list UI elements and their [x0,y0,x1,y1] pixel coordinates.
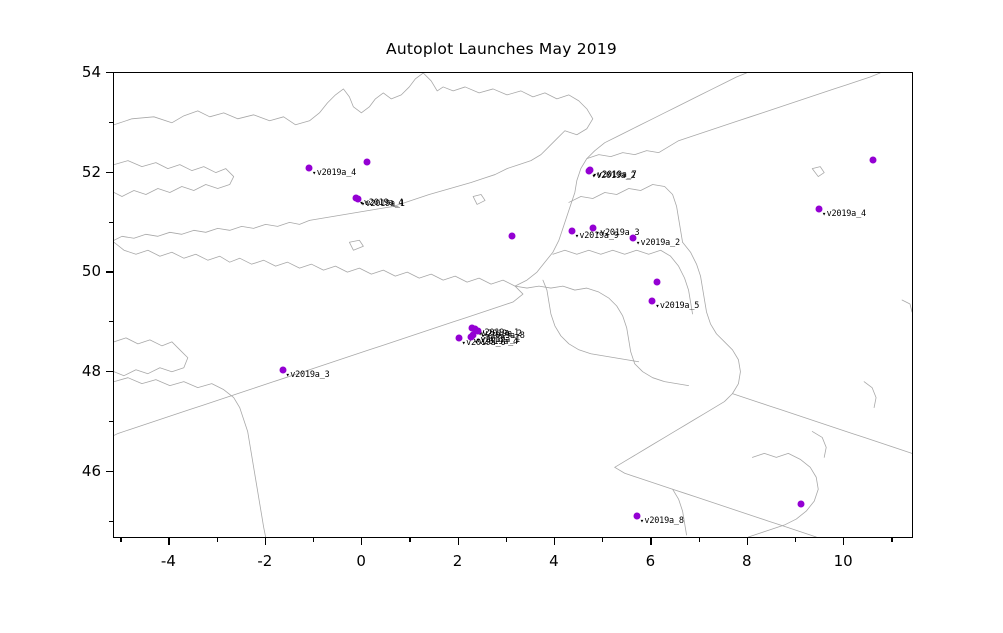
y-tick-minor [109,521,113,522]
y-tick-major [106,172,113,173]
data-point-label: v2019a_1 [361,199,405,209]
x-tick-minor [409,538,410,542]
y-tick-minor [109,321,113,322]
data-point-marker [508,233,515,240]
data-point-marker [364,158,371,165]
y-tick-label: 54 [55,63,101,81]
y-tick-label: 52 [55,163,101,181]
chart-figure: Autoplot Launches May 2019 [0,0,1003,633]
data-point-label: v2019a_2 [636,238,680,248]
x-tick-major [361,538,362,545]
data-point-marker [797,501,804,508]
y-tick-label: 48 [55,362,101,380]
x-axis-tick-labels: -4-20246810 [113,552,913,576]
x-tick-label: 0 [341,552,381,570]
y-tick-minor [109,222,113,223]
x-tick-label: -4 [148,552,188,570]
x-tick-major [554,538,555,545]
x-tick-label: 8 [727,552,767,570]
x-tick-major [458,538,459,545]
data-point-label: v2019a_4 [822,209,866,219]
y-tick-label: 46 [55,462,101,480]
x-tick-label: 10 [823,552,863,570]
y-tick-major [106,371,113,372]
x-tick-minor [602,538,603,542]
x-tick-major [747,538,748,545]
data-point-label: v2019a_4 [474,337,518,347]
x-tick-minor [217,538,218,542]
data-point-label: v2019a_8 [640,516,684,526]
page-title: Autoplot Launches May 2019 [0,40,1003,58]
data-point-label: v2019a_4 [312,168,356,178]
data-point-marker [870,157,877,164]
x-tick-major [265,538,266,545]
plot-area: v2019a_4v2019a_4v2019a_1v2019a_7v2019a_2… [113,72,913,538]
x-tick-minor [699,538,700,542]
x-tick-minor [506,538,507,542]
y-tick-major [106,471,113,472]
x-tick-label: -2 [245,552,285,570]
data-point-label: v2019a_3 [286,370,330,380]
y-tick-major [106,72,113,73]
data-point-marker [654,279,661,286]
x-tick-major [650,538,651,545]
x-tick-major [168,538,169,545]
x-tick-label: 4 [534,552,574,570]
data-points-layer: v2019a_4v2019a_4v2019a_1v2019a_7v2019a_2… [114,73,912,537]
y-axis-tick-labels: 4648505254 [55,72,101,538]
data-point-label: v2019a_2 [592,171,636,181]
x-tick-minor [795,538,796,542]
x-tick-label: 2 [438,552,478,570]
y-tick-minor [109,421,113,422]
x-tick-minor [891,538,892,542]
x-tick-label: 6 [630,552,670,570]
y-tick-minor [109,122,113,123]
y-tick-label: 50 [55,262,101,280]
x-tick-minor [120,538,121,542]
x-tick-minor [313,538,314,542]
y-tick-major [106,271,113,272]
data-point-label: v2019a_5 [655,301,699,311]
x-tick-major [843,538,844,545]
